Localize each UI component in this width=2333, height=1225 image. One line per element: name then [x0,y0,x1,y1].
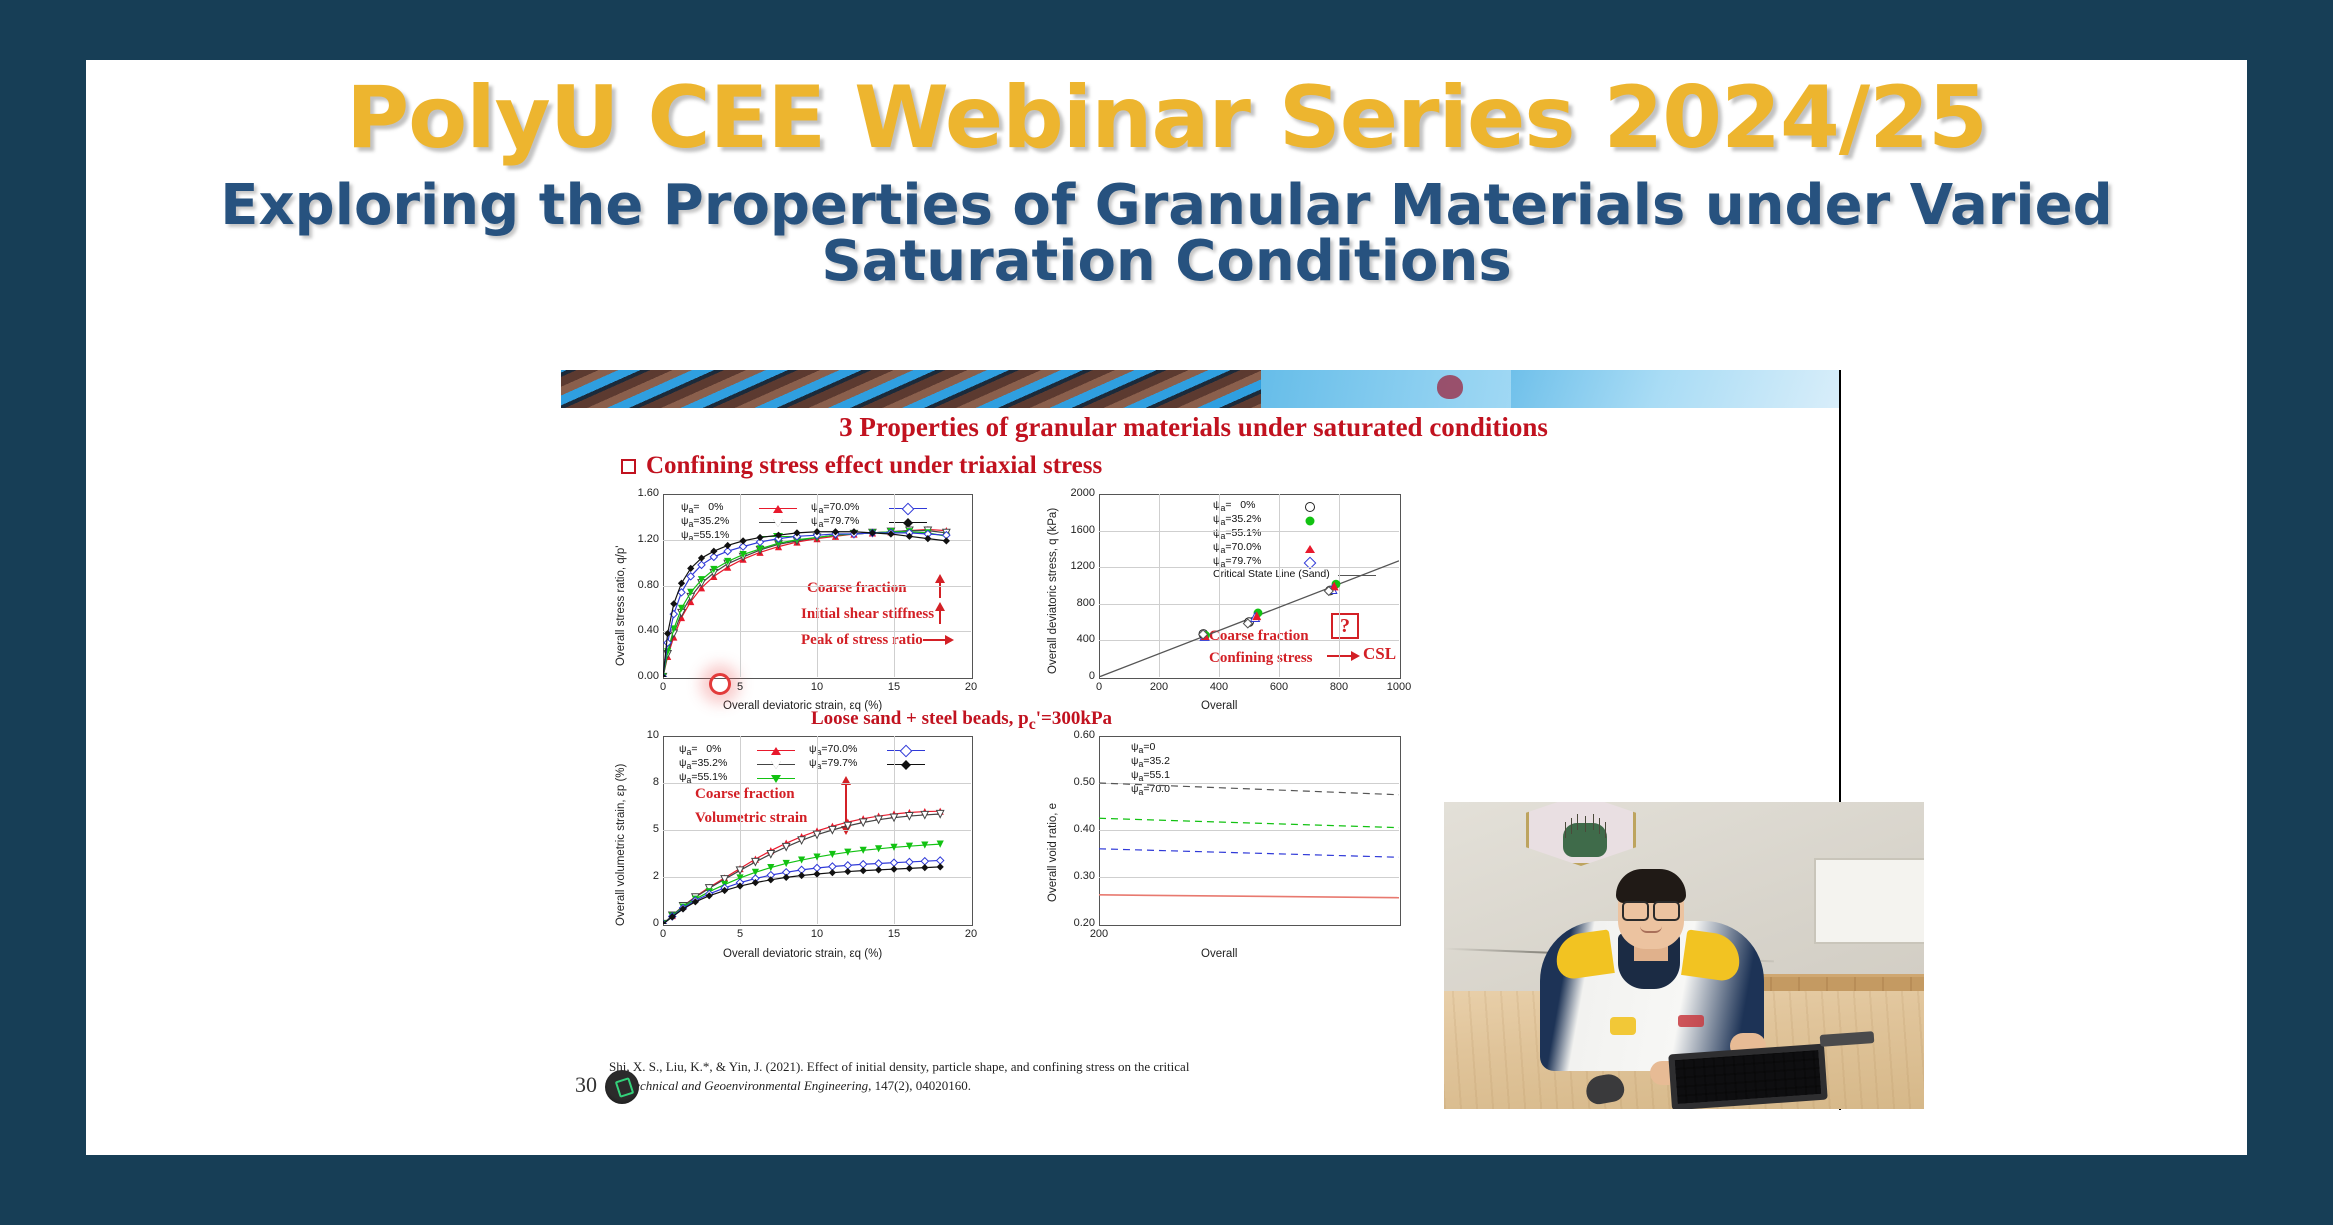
x-axis-tick: 200 [1137,681,1181,693]
data-point [921,858,928,865]
y-axis-tick: 400 [1051,633,1095,645]
series-line [1099,849,1399,857]
chart4-ylabel: Overall void ratio, e [1047,803,1059,902]
data-point [924,535,931,542]
banner-dome-icon [1437,375,1463,399]
x-axis-tick: 15 [872,681,916,693]
white-page: PolyU CEE Webinar Series 2024/25 Explori… [86,60,2247,1155]
cursor-pointer-icon [605,1070,639,1104]
data-point [798,837,805,844]
chart3-xlabel: Overall deviatoric strain, εq (%) [723,948,882,960]
y-axis-tick: 8 [615,776,659,788]
chart-critical-state-line: Overall deviatoric stress, q (kPa) Overa… [1031,488,1431,713]
slide-subheading-row: Confining stress effect under triaxial s… [621,452,1102,480]
series-line [663,532,946,677]
chart-data-layer [1099,494,1399,677]
chart-data-layer [1099,736,1399,924]
series-line [663,844,940,924]
dept-line3: 土木及環境工程學系 [1578,393,1825,409]
jacket-logo-50 [1610,1017,1636,1035]
data-point [829,863,836,870]
banner-sky [1261,370,1841,408]
x-axis-tick: 10 [795,681,839,693]
y-axis-tick: 1200 [1051,560,1095,572]
data-point [890,866,897,873]
slide-heading: 3 Properties of granular materials under… [561,412,1826,443]
data-point [813,870,820,877]
slide-subheading: Confining stress effect under triaxial s… [646,452,1102,480]
data-point [875,860,882,867]
chart-stress-ratio: Overall stress ratio, q/p' Overall devia… [601,488,1001,713]
y-axis-tick: 1600 [1051,524,1095,536]
data-point [739,537,746,544]
y-axis-tick: 0.50 [1051,776,1095,788]
x-axis-tick: 5 [718,928,762,940]
y-axis-tick: 800 [1051,597,1095,609]
series-line [663,529,946,677]
dept-line1: DEPARTMENT OF [1578,374,1825,381]
whiteboard [1814,858,1924,944]
page-subtitle: Exploring the Properties of Granular Mat… [146,178,2187,290]
x-axis-tick: 600 [1257,681,1301,693]
x-axis-tick: 10 [795,928,839,940]
y-axis-tick: 0.80 [615,579,659,591]
y-axis-tick: 1.20 [615,533,659,545]
dept-line2: CIVIL AND ENVIRONMENTAL ENGINEERING [1578,381,1825,393]
x-axis-tick: 20 [949,681,993,693]
x-axis-tick: 0 [641,928,685,940]
x-axis-tick: 0 [641,681,685,693]
y-axis-tick: 2000 [1051,487,1095,499]
data-point [710,548,717,555]
cactus-icon [1563,823,1607,857]
data-point [875,866,882,873]
citation-text-1: Shi, X. S., Liu, K.*, & Yin, J. (2021). … [609,1059,1189,1074]
presenter-hair [1616,869,1686,903]
data-point [890,859,897,866]
department-logo: DEPARTMENT OF CIVIL AND ENVIRONMENTAL EN… [1534,372,1829,411]
caption-part1: Loose sand + steel beads, p [811,708,1029,729]
data-point [798,872,805,879]
x-axis-tick: 20 [949,928,993,940]
data-point [724,542,731,549]
screen: PolyU CEE Webinar Series 2024/25 Explori… [0,0,2333,1225]
presenter-smile [1640,926,1662,933]
series-line [663,531,946,677]
data-point [783,874,790,881]
data-point [678,580,685,587]
y-axis-tick: 0.30 [1051,870,1095,882]
chart4-xlabel: Overall [1201,948,1237,960]
presenter-video[interactable] [1444,802,1924,1109]
x-axis-tick: 5 [718,681,762,693]
y-axis-tick: 0.40 [1051,823,1095,835]
book-stack-icon [1538,375,1572,409]
y-axis-tick: 0.40 [615,624,659,636]
x-axis-tick: 400 [1197,681,1241,693]
data-point [783,843,790,850]
caption-part2: '=300kPa [1036,708,1112,729]
chart-data-layer [663,494,971,677]
y-axis-tick: 5 [615,823,659,835]
data-point [844,862,851,869]
citation-text-2: , 147(2), 04020160. [868,1078,971,1093]
chart-data-layer [663,736,971,924]
slide-number: 30 [575,1072,597,1098]
x-axis-tick: 800 [1317,681,1361,693]
data-point [921,864,928,871]
series-line [1099,783,1399,795]
chart2-xlabel: Overall [1201,700,1237,712]
x-axis-tick: 0 [1077,681,1121,693]
y-axis-tick: 0.60 [1051,729,1095,741]
data-point [906,865,913,872]
data-point [756,534,763,541]
data-point [943,537,950,544]
data-point [937,863,944,870]
data-point [767,864,774,871]
data-point [829,869,836,876]
data-point [767,876,774,883]
x-axis-tick: 15 [872,928,916,940]
y-axis-tick: 2 [615,870,659,882]
series-line [1099,895,1399,898]
slide-banner-photo: DEPARTMENT OF CIVIL AND ENVIRONMENTAL EN… [561,370,1841,408]
data-point [937,857,944,864]
data-point [906,858,913,865]
data-point [860,867,867,874]
series-line [1099,818,1399,827]
x-axis-tick: 1000 [1377,681,1421,693]
chart-volumetric-strain: Overall volumetric strain, εp (%) Overal… [601,730,1001,965]
y-axis-tick: 1.60 [615,487,659,499]
page-title: PolyU CEE Webinar Series 2024/25 [86,68,2247,168]
data-point [860,861,867,868]
chart3-ylabel: Overall volumetric strain, εp (%) [615,764,627,926]
keyboard [1668,1044,1828,1109]
chart-void-ratio: Overall void ratio, e Overall ψa=0ψa=35.… [1031,730,1431,965]
series-line [663,532,946,677]
x-axis-tick: 200 [1077,928,1121,940]
series-line [663,533,946,677]
y-axis-tick: 10 [615,729,659,741]
square-bullet-icon [621,459,636,474]
data-point [813,831,820,838]
data-point [829,826,836,833]
glasses-icon [1622,901,1680,917]
chart1-ylabel: Overall stress ratio, q/p' [615,546,627,666]
citation-journal: Geotechnical and Geoenvironmental Engine… [609,1078,868,1093]
jacket-logo-red [1678,1015,1704,1027]
data-point [844,868,851,875]
